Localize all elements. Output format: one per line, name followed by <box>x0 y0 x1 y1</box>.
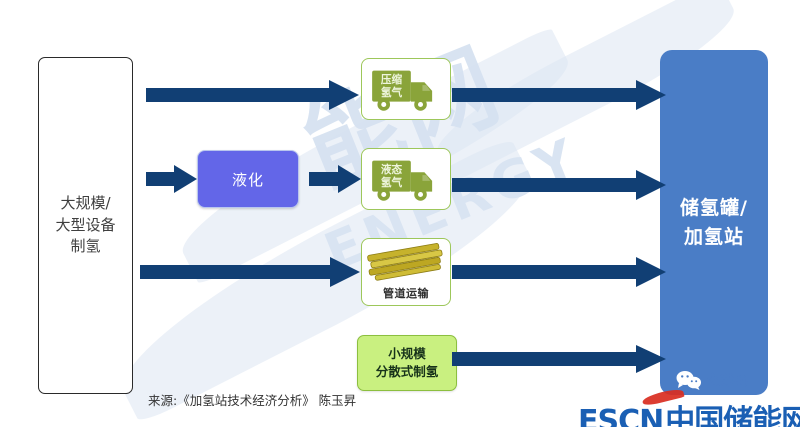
node-liquid-hydrogen-truck[interactable]: 液态 氢气 <box>361 148 451 210</box>
logo-latin-text: ESCN <box>578 404 663 427</box>
arrow-source-to-liquefaction <box>146 165 197 193</box>
truck-icon: 压缩 氢气 <box>362 59 450 119</box>
escn-logo[interactable]: ESCN 中国储能网 <box>578 396 800 427</box>
truck-label-line-1: 压缩 <box>381 73 403 86</box>
wechat-label: 交能网 <box>706 370 748 390</box>
node-label: 液化 <box>232 169 264 190</box>
diagram-canvas: 能网 ENERGY <box>0 0 800 427</box>
node-liquefaction[interactable]: 液化 <box>197 150 299 208</box>
truck-icon: 液态 氢气 <box>362 149 450 209</box>
truck-label-line-2: 氢气 <box>381 86 403 99</box>
node-pipeline-transport[interactable]: 管道运输 <box>361 238 451 306</box>
arrow-source-to-truck-compressed <box>146 80 359 110</box>
truck-label-line-1: 液态 <box>381 163 403 176</box>
logo-chinese-text: 中国储能网 <box>665 396 800 427</box>
node-label: 大规模/ 大型设备 制氢 <box>55 193 115 258</box>
node-label: 管道运输 <box>383 285 429 301</box>
node-small-scale-distributed-production[interactable]: 小规模 分散式制氢 <box>357 335 457 391</box>
node-large-scale-hydrogen-production[interactable]: 大规模/ 大型设备 制氢 <box>38 57 133 394</box>
arrow-pipeline-to-destination <box>452 257 666 287</box>
arrow-truck-liquid-to-destination <box>452 170 666 200</box>
source-note: 来源:《加氢站技术经济分析》 陈玉昇 <box>148 390 356 409</box>
node-hydrogen-storage-and-refueling-station[interactable]: 储氢罐/ 加氢站 <box>660 50 768 395</box>
node-compressed-hydrogen-truck[interactable]: 压缩 氢气 <box>361 58 451 120</box>
arrow-small-scale-to-destination <box>452 345 666 373</box>
wechat-icon <box>676 370 702 390</box>
arrow-truck-compressed-to-destination <box>452 80 666 110</box>
wechat-badge: 交能网 <box>676 370 748 390</box>
node-label: 小规模 分散式制氢 <box>376 345 439 381</box>
arrow-liquefaction-to-truck-liquid <box>309 165 361 193</box>
pipe-bundle-icon <box>365 243 447 281</box>
arrow-source-to-pipeline <box>140 257 360 287</box>
truck-label-line-2: 氢气 <box>381 176 403 189</box>
node-label: 储氢罐/ 加氢站 <box>680 194 748 251</box>
